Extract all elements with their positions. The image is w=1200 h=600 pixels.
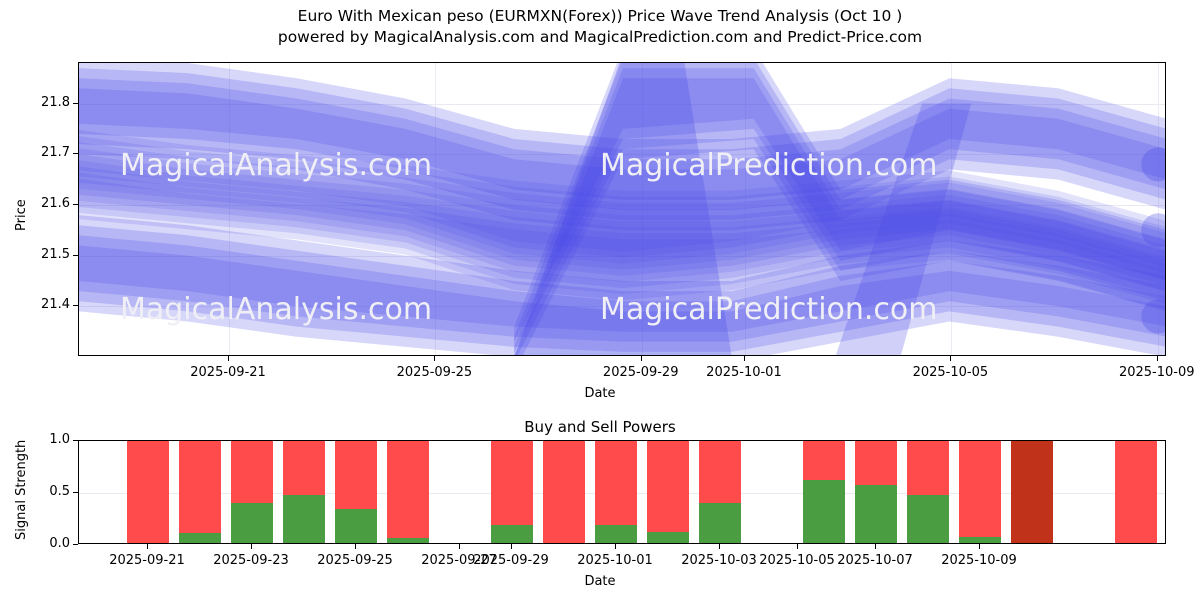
signal-bar xyxy=(959,441,1001,543)
price-plot-area xyxy=(79,63,1165,355)
sell-power-segment xyxy=(231,441,273,503)
sell-power-segment xyxy=(803,441,845,480)
x-tickmark xyxy=(355,544,356,549)
buy-sell-powers-chart xyxy=(78,440,1166,544)
sell-power-segment xyxy=(387,441,429,538)
sell-power-segment xyxy=(959,441,1001,537)
sell-power-segment xyxy=(595,441,637,525)
sell-power-segment xyxy=(491,441,533,525)
x-tickmark xyxy=(641,356,642,361)
price-x-axis-title: Date xyxy=(0,386,1200,401)
buy-power-segment xyxy=(491,525,533,543)
x-tickmark xyxy=(147,544,148,549)
x-axis-tick-label: 2025-09-21 xyxy=(87,553,207,568)
sell-power-segment xyxy=(647,441,689,532)
y-tickmark xyxy=(73,204,78,205)
x-tickmark xyxy=(228,356,229,361)
signal-chart-title: Buy and Sell Powers xyxy=(0,418,1200,436)
x-axis-tick-label: 2025-10-09 xyxy=(1097,365,1200,380)
x-tickmark xyxy=(615,544,616,549)
signal-bar xyxy=(855,441,897,543)
signal-bar xyxy=(179,441,221,543)
chart-title: Euro With Mexican peso (EURMXN(Forex)) P… xyxy=(0,6,1200,27)
x-axis-tick-label: 2025-09-23 xyxy=(191,553,311,568)
buy-power-segment xyxy=(855,485,897,543)
signal-bar xyxy=(491,441,533,543)
y-tickmark xyxy=(73,544,78,545)
buy-power-segment xyxy=(335,509,377,543)
x-axis-tick-label: 2025-09-21 xyxy=(168,365,288,380)
y-tickmark xyxy=(73,103,78,104)
y-tickmark xyxy=(73,255,78,256)
chart-subtitle: powered by MagicalAnalysis.com and Magic… xyxy=(0,27,1200,48)
price-wave-chart xyxy=(78,62,1166,356)
x-tickmark xyxy=(797,544,798,549)
price-axis-title: Price xyxy=(14,199,29,231)
buy-power-segment xyxy=(231,503,273,543)
x-tickmark xyxy=(950,356,951,361)
signal-bar xyxy=(699,441,741,543)
buy-power-segment xyxy=(647,532,689,543)
x-tickmark xyxy=(434,356,435,361)
buy-power-segment xyxy=(803,480,845,543)
y-tickmark xyxy=(73,492,78,493)
sell-power-segment xyxy=(335,441,377,509)
x-tickmark xyxy=(459,544,460,549)
sell-power-segment xyxy=(1011,441,1053,543)
x-tickmark xyxy=(744,356,745,361)
x-axis-tick-label: 2025-10-01 xyxy=(555,553,675,568)
wave-bands xyxy=(79,63,1165,355)
buy-power-segment xyxy=(387,538,429,543)
sell-power-segment xyxy=(127,441,169,543)
buy-power-segment xyxy=(907,495,949,543)
signal-bar xyxy=(803,441,845,543)
x-tickmark xyxy=(511,544,512,549)
x-axis-tick-label: 2025-10-09 xyxy=(919,553,1039,568)
y-axis-tick-label: 21.8 xyxy=(12,95,70,110)
signal-bar xyxy=(231,441,273,543)
y-axis-tick-label: 21.4 xyxy=(12,297,70,312)
buy-power-segment xyxy=(699,503,741,543)
chart-title-block: Euro With Mexican peso (EURMXN(Forex)) P… xyxy=(0,6,1200,48)
x-axis-tick-label: 2025-09-29 xyxy=(451,553,571,568)
x-axis-tick-label: 2025-09-29 xyxy=(581,365,701,380)
signal-bar xyxy=(595,441,637,543)
y-tickmark xyxy=(73,305,78,306)
signal-bar xyxy=(647,441,689,543)
signal-bar xyxy=(1115,441,1157,543)
signal-bar xyxy=(543,441,585,543)
sell-power-segment xyxy=(543,441,585,543)
sell-power-segment xyxy=(1115,441,1157,543)
signal-x-axis-title: Date xyxy=(0,574,1200,589)
x-axis-tick-label: 2025-09-25 xyxy=(295,553,415,568)
sell-power-segment xyxy=(907,441,949,495)
signal-bar xyxy=(387,441,429,543)
signal-bar xyxy=(335,441,377,543)
signal-bar xyxy=(907,441,949,543)
x-axis-tick-label: 2025-10-01 xyxy=(684,365,804,380)
y-axis-tick-label: 21.7 xyxy=(12,145,70,160)
x-tickmark xyxy=(1157,356,1158,361)
chart-page: Euro With Mexican peso (EURMXN(Forex)) P… xyxy=(0,0,1200,600)
buy-power-segment xyxy=(283,495,325,543)
signal-bar xyxy=(283,441,325,543)
signal-axis-title: Signal Strength xyxy=(14,440,29,540)
sell-power-segment xyxy=(179,441,221,533)
y-tickmark xyxy=(73,440,78,441)
signal-bar xyxy=(127,441,169,543)
x-axis-tick-label: 2025-10-07 xyxy=(815,553,935,568)
sell-power-segment xyxy=(855,441,897,485)
buy-power-segment xyxy=(959,537,1001,543)
x-tickmark xyxy=(251,544,252,549)
buy-power-segment xyxy=(179,533,221,543)
y-axis-tick-label: 21.5 xyxy=(12,247,70,262)
sell-power-segment xyxy=(283,441,325,495)
sell-power-segment xyxy=(699,441,741,503)
x-tickmark xyxy=(719,544,720,549)
x-axis-tick-label: 2025-09-25 xyxy=(374,365,494,380)
signal-plot-area xyxy=(79,441,1165,543)
x-tickmark xyxy=(979,544,980,549)
signal-bar xyxy=(1011,441,1053,543)
y-tickmark xyxy=(73,153,78,154)
buy-power-segment xyxy=(595,525,637,543)
x-tickmark xyxy=(875,544,876,549)
x-axis-tick-label: 2025-10-05 xyxy=(890,365,1010,380)
